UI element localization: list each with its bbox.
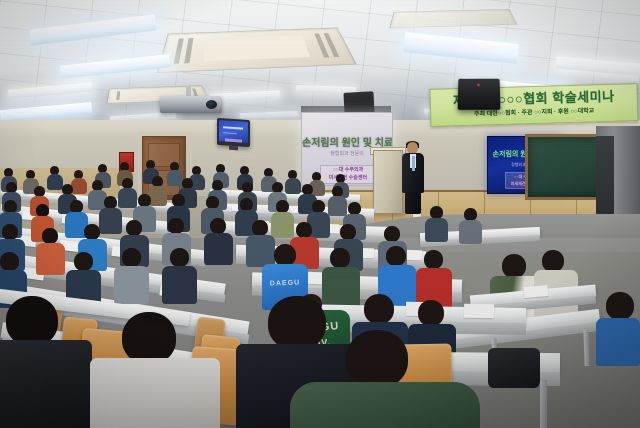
projector-lens [206, 100, 217, 109]
backpack [488, 348, 540, 388]
lecture-hall-photo: 제2회 ○○○○협회 학술세미나 주최 대한○○협회 · 주관 ○○지회 · 후… [0, 0, 640, 428]
wall-monitor-screen [219, 120, 248, 143]
slide-footer-line1: ○○대 수부외과 [321, 166, 375, 174]
presenter-tie [412, 156, 415, 171]
slide-footer-line2: 미세재건 수술센터 [321, 174, 375, 182]
slide-footer: ○○대 수부외과 미세재건 수술센터 [320, 165, 376, 184]
monitor-stand [229, 146, 238, 151]
podium [373, 150, 403, 214]
handout-paper [524, 285, 549, 298]
ceiling-projector [160, 96, 222, 113]
handout-paper [464, 304, 494, 319]
desk-leg [540, 380, 547, 428]
wall-mounted-monitor [217, 118, 250, 147]
presenter-legs [405, 192, 421, 214]
presenter [402, 142, 424, 214]
speaker-led-icon [477, 83, 480, 86]
hanging-speaker [458, 79, 501, 110]
